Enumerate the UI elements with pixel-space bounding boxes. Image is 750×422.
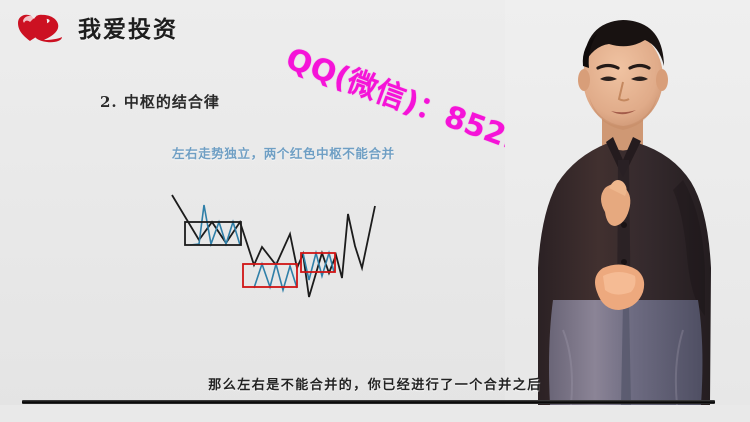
slide-note-text: 左右走势独立，两个红色中枢不能合并: [172, 143, 395, 162]
chart-zone-box: [243, 264, 297, 287]
slide-stage: 我爱投资 2. 中枢的结合律 左右走势独立，两个红色中枢不能合并 QQ(微信)：…: [0, 0, 750, 422]
chart-zone-box: [301, 253, 335, 272]
chart-series-line: [172, 195, 375, 297]
presenter-video-figure: [505, 0, 750, 405]
brand-logo[interactable]: 我爱投资: [14, 10, 178, 44]
slide-bottom-strip: [0, 405, 750, 422]
page-title: 2. 中枢的结合律: [100, 91, 220, 112]
heart-52-logo-icon: [14, 10, 70, 44]
brand-name: 我爱投资: [78, 10, 178, 44]
slide-subtitle-caption: 那么左右是不能合并的，你已经进行了一个合并之后: [0, 374, 750, 393]
slide-bottom-rule: [22, 400, 715, 404]
chart-series-line: [303, 253, 334, 280]
chart-zone-box: [185, 222, 241, 245]
chart-series-line: [190, 205, 240, 245]
chart-series-line: [254, 264, 297, 290]
